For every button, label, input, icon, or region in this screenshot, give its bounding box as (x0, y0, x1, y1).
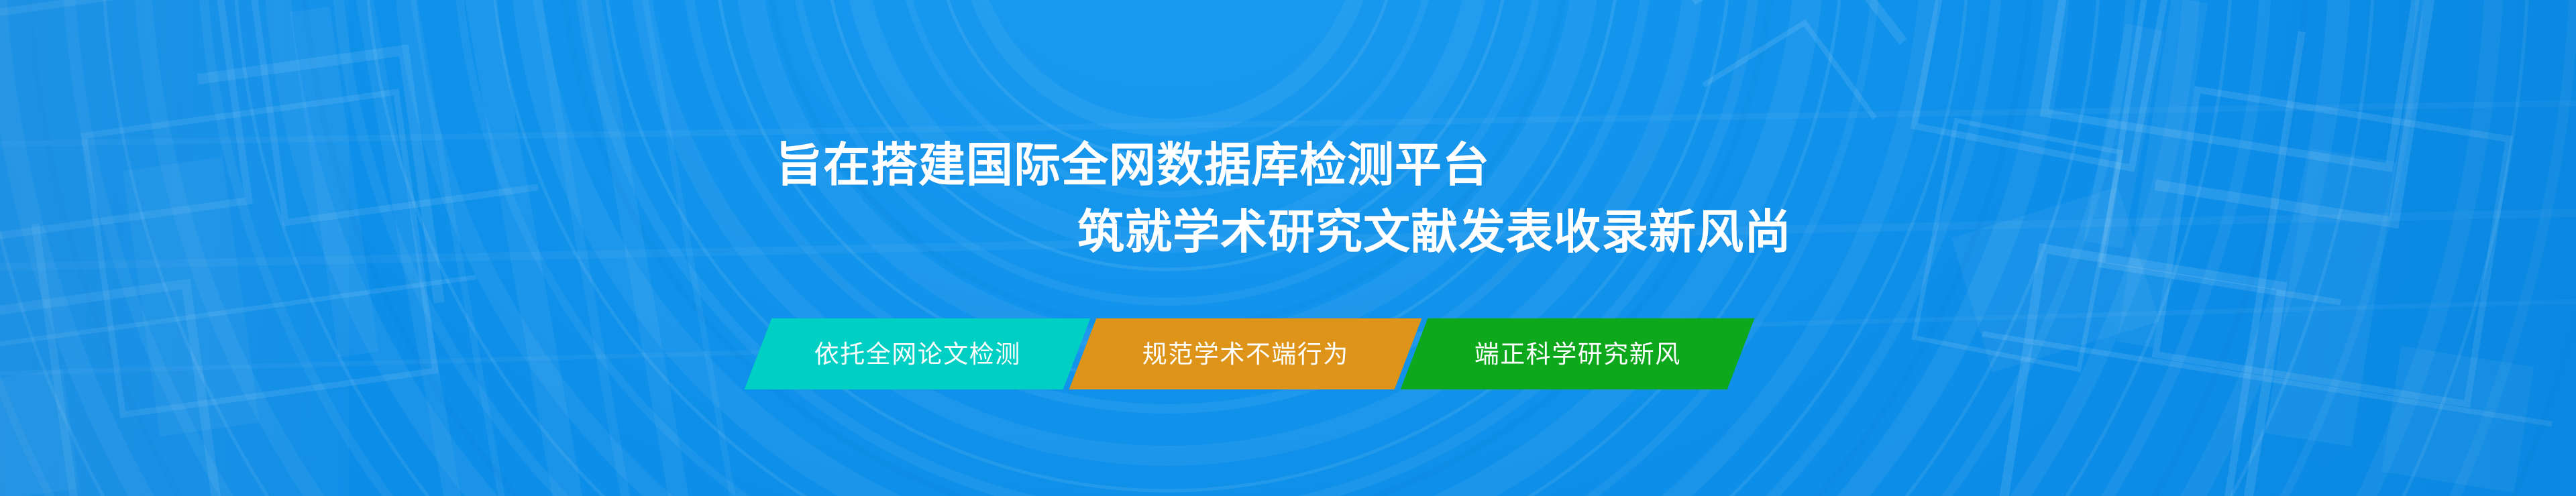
feature-tag-misconduct-label: 规范学术不端行为 (1142, 342, 1349, 367)
headline-line-1: 旨在搭建国际全网数据库检测平台 (0, 131, 2576, 198)
feature-tag-list: 依托全网论文检测 规范学术不端行为 端正科学研究新风 (758, 318, 1741, 389)
feature-tag-integrity[interactable]: 端正科学研究新风 (1401, 318, 1755, 389)
feature-tag-misconduct[interactable]: 规范学术不端行为 (1069, 318, 1422, 389)
feature-tag-integrity-label: 端正科学研究新风 (1474, 342, 1681, 367)
headline-block: 旨在搭建国际全网数据库检测平台 筑就学术研究文献发表收录新风尚 (0, 131, 2576, 265)
banner-content: 旨在搭建国际全网数据库检测平台 筑就学术研究文献发表收录新风尚 依托全网论文检测… (0, 0, 2576, 496)
headline-line-2: 筑就学术研究文献发表收录新风尚 (0, 198, 2576, 265)
feature-tag-detection[interactable]: 依托全网论文检测 (745, 318, 1091, 389)
promo-banner: 旨在搭建国际全网数据库检测平台 筑就学术研究文献发表收录新风尚 依托全网论文检测… (0, 0, 2576, 496)
feature-tag-detection-label: 依托全网论文检测 (814, 342, 1021, 367)
